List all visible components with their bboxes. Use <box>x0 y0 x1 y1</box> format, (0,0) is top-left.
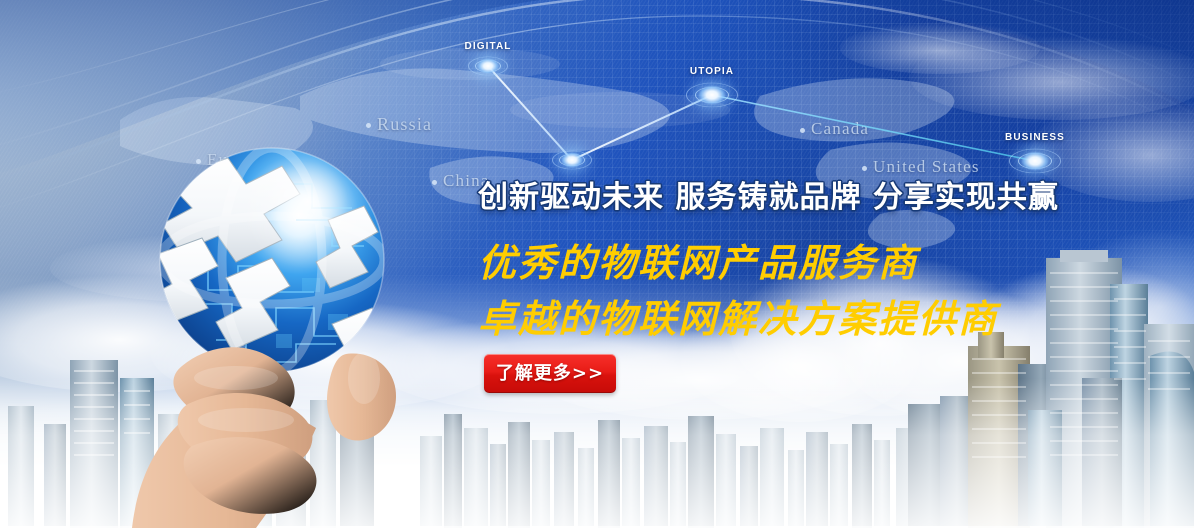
network-node-label-business: BUSINESS <box>1005 132 1065 143</box>
network-node-label-digital: DIGITAL <box>465 41 512 52</box>
network-node-label-utopia: UTOPIA <box>690 66 734 77</box>
fingers <box>173 347 396 514</box>
node-glow-icon <box>561 152 583 168</box>
hero-banner: Europe Russia China Canada United States… <box>0 0 1194 528</box>
node-glow-icon <box>1021 151 1049 171</box>
banner-headline: 创新驱动未来 服务铸就品牌 分享实现共赢 <box>478 172 1059 216</box>
node-glow-icon <box>477 58 499 74</box>
learn-more-button[interactable]: 了解更多>> <box>484 354 616 393</box>
banner-subline-primary: 优秀的物联网产品服务商 <box>478 232 918 287</box>
network-node-utopia[interactable] <box>684 76 740 114</box>
banner-subline-secondary: 卓越的物联网解决方案提供商 <box>478 288 998 343</box>
node-glow-icon <box>698 85 726 105</box>
city-cluster-center <box>420 414 890 526</box>
network-node-unlabeled[interactable] <box>550 145 594 175</box>
hand-holding-globe-graphic <box>96 128 456 528</box>
network-node-digital[interactable] <box>466 51 510 81</box>
